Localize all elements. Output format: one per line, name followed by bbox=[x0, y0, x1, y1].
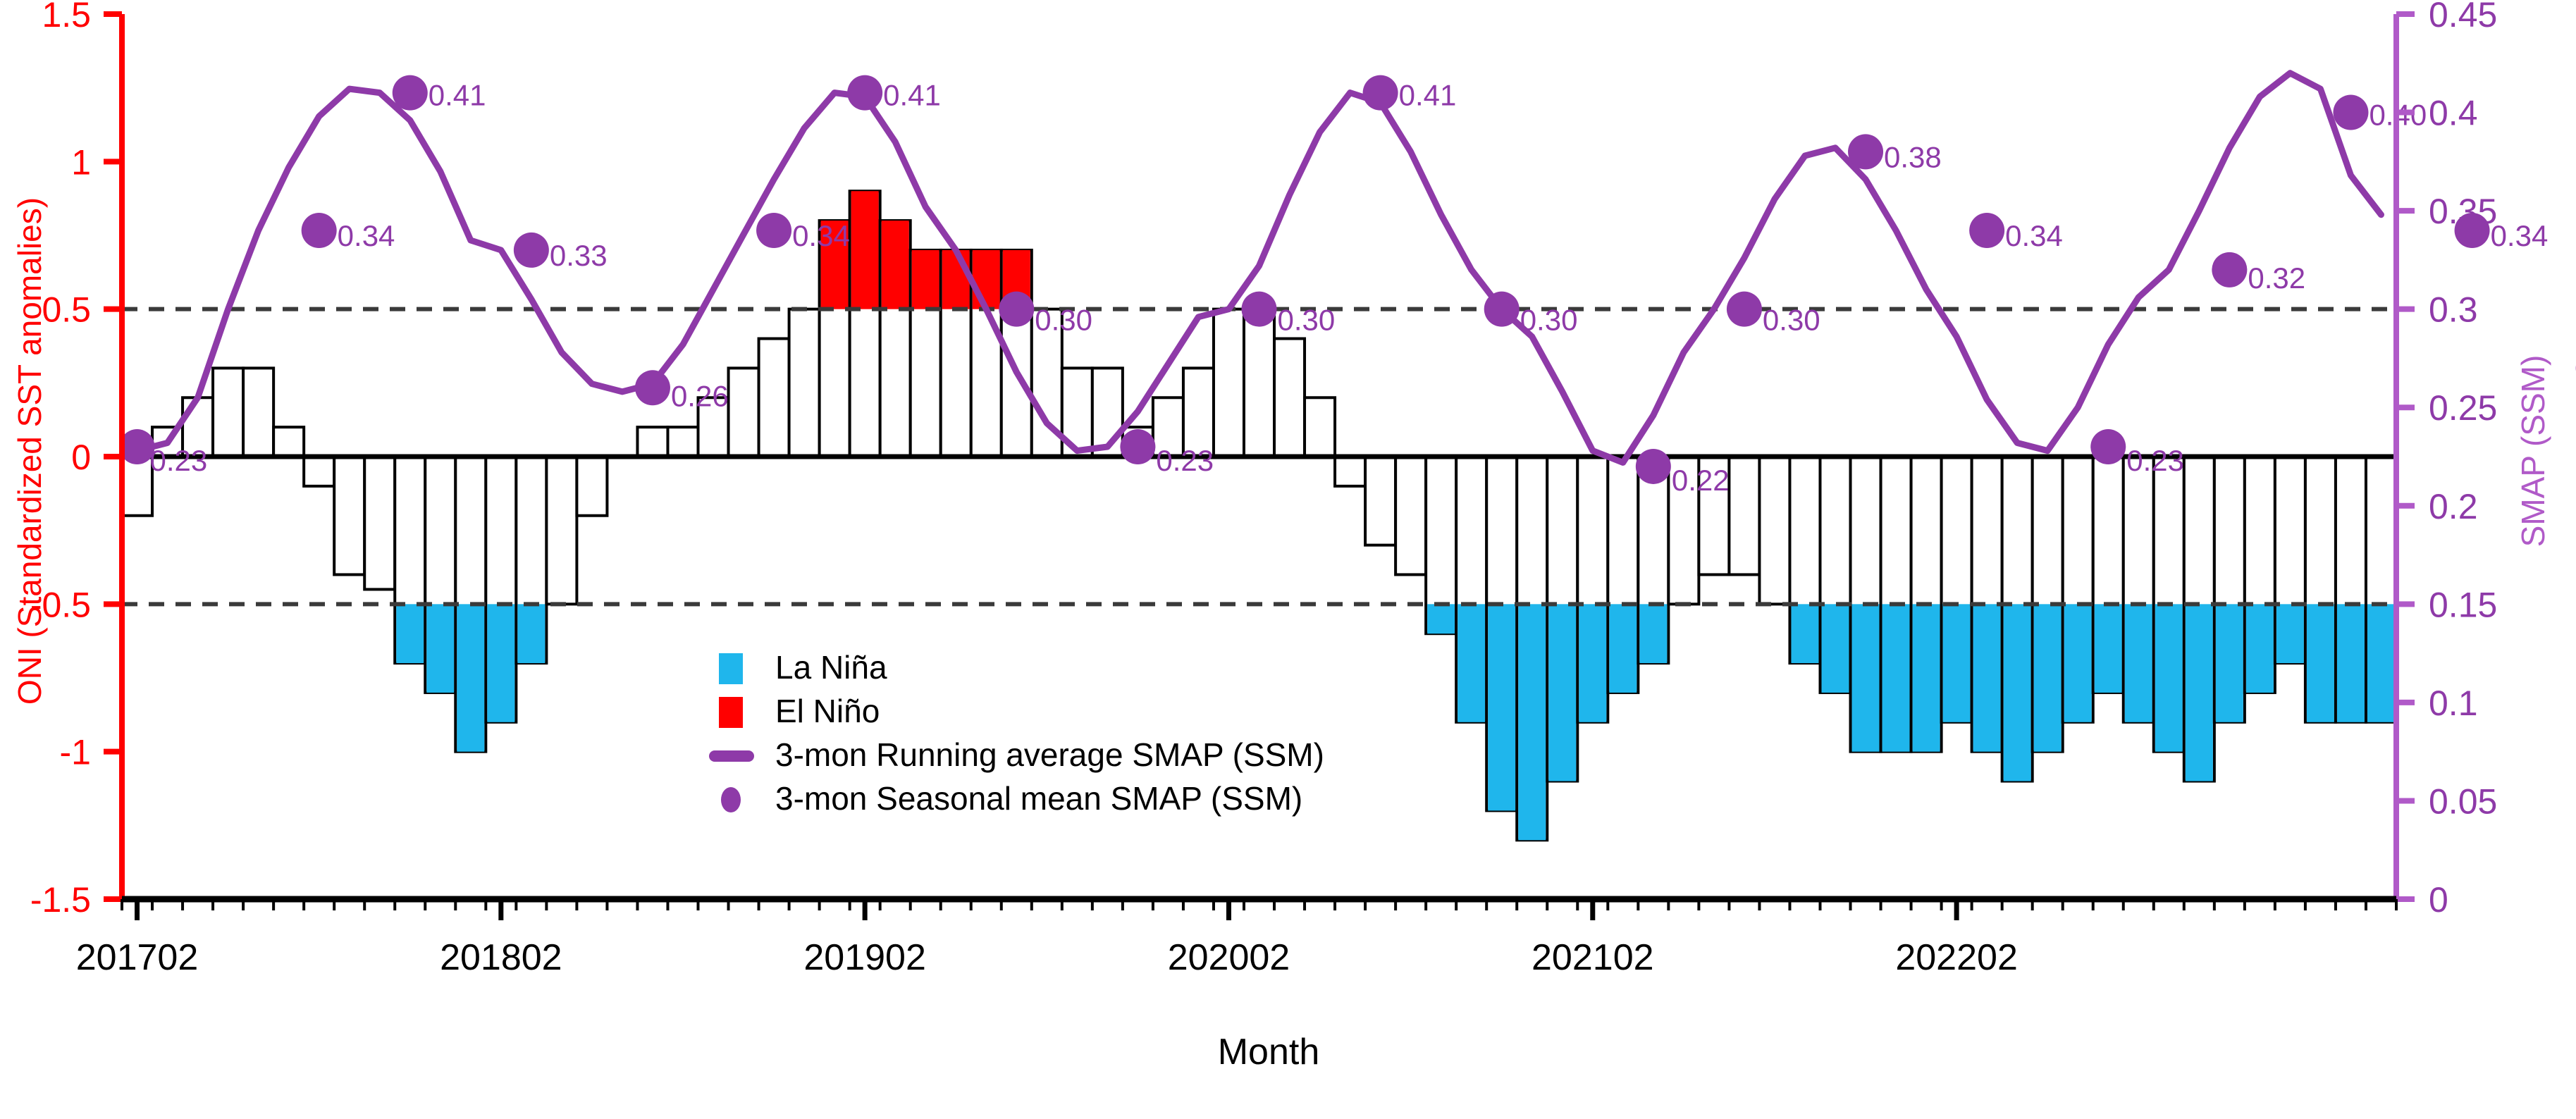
oni-bar bbox=[1456, 457, 1486, 722]
la-nina-fill bbox=[2034, 604, 2062, 751]
la-nina-fill bbox=[517, 604, 545, 663]
oni-bar bbox=[1486, 457, 1517, 810]
la-nina-fill bbox=[2276, 604, 2304, 663]
oni-bar bbox=[2093, 457, 2124, 693]
oni-bar-outline bbox=[273, 427, 304, 457]
x-axis-tick-label: 202002 bbox=[1168, 937, 1290, 978]
la-nina-fill bbox=[1579, 604, 1606, 722]
la-nina-fill bbox=[487, 604, 514, 722]
right-axis-tick-label: 0.3 bbox=[2429, 290, 2478, 330]
oni-bar-outline bbox=[1335, 457, 1365, 486]
smap-point-label: 0.30 bbox=[1763, 304, 1820, 337]
oni-bar bbox=[1789, 457, 1820, 663]
left-axis-tick-label: -1 bbox=[60, 733, 91, 772]
oni-bar-outline bbox=[334, 457, 364, 574]
oni-bar-outline bbox=[789, 309, 820, 457]
smap-point-label: 0.22 bbox=[1672, 464, 1730, 497]
oni-bar bbox=[759, 339, 789, 457]
oni-bar bbox=[1244, 309, 1274, 457]
smap-point-label: 0.30 bbox=[1278, 304, 1336, 337]
oni-bar-outline bbox=[213, 368, 243, 457]
legend-swatch-square bbox=[719, 697, 743, 728]
la-nina-fill bbox=[1458, 604, 1485, 722]
oni-bar-outline bbox=[577, 457, 607, 516]
oni-bar bbox=[941, 250, 971, 457]
left-axis-tick-label: 0.5 bbox=[42, 290, 91, 330]
oni-bar bbox=[2002, 457, 2033, 781]
smap-point-label: 0.34 bbox=[2005, 219, 2063, 252]
smap-seasonal-mean-point bbox=[393, 75, 428, 111]
legend-label: 3-mon Running average SMAP (SSM) bbox=[775, 736, 1324, 773]
smap-seasonal-mean-point bbox=[2090, 429, 2126, 464]
oni-bar bbox=[2184, 457, 2214, 781]
oni-bar bbox=[2305, 457, 2336, 722]
smap-point-label: 0.30 bbox=[1520, 304, 1578, 337]
oni-bar bbox=[2063, 457, 2093, 722]
la-nina-fill bbox=[1488, 604, 1515, 810]
oni-bar bbox=[911, 250, 941, 457]
oni-bar bbox=[1274, 339, 1305, 457]
oni-bar bbox=[2214, 457, 2245, 722]
smap-seasonal-mean-point bbox=[999, 292, 1034, 327]
smap-point-label: 0.23 bbox=[150, 444, 208, 477]
legend-item[interactable]: 3-mon Running average SMAP (SSM) bbox=[715, 736, 1324, 773]
oni-bar-outline bbox=[759, 339, 789, 457]
oni-bar bbox=[1638, 457, 1668, 663]
oni-bar bbox=[1759, 457, 1789, 604]
la-nina-fill bbox=[1548, 604, 1576, 781]
la-nina-fill bbox=[1882, 604, 1910, 751]
smap-seasonal-mean-point bbox=[514, 233, 549, 268]
oni-bar bbox=[1395, 457, 1426, 574]
oni-bar bbox=[486, 457, 516, 722]
oni-bar bbox=[1214, 309, 1244, 457]
oni-bar bbox=[395, 457, 425, 663]
smap-seasonal-mean-point bbox=[847, 75, 882, 111]
el-nino-fill bbox=[942, 250, 970, 309]
left-axis-tick-label: 1 bbox=[71, 142, 91, 182]
la-nina-fill bbox=[2307, 604, 2334, 722]
legend-label: El Niño bbox=[775, 693, 880, 729]
oni-bar-outline bbox=[304, 457, 334, 486]
oni-bar bbox=[364, 457, 395, 589]
oni-bar bbox=[546, 457, 577, 604]
oni-bar-outline bbox=[1395, 457, 1426, 574]
oni-bar bbox=[820, 221, 850, 457]
x-axis-tick-label: 201802 bbox=[440, 937, 562, 978]
right-axis-tick-label: 0 bbox=[2429, 880, 2448, 920]
la-nina-fill bbox=[457, 604, 484, 751]
oni-bar bbox=[577, 457, 607, 516]
oni-bar bbox=[2275, 457, 2305, 663]
oni-bar bbox=[667, 427, 698, 457]
chart-figure: 0.230.340.410.330.260.340.410.300.230.30… bbox=[0, 0, 2576, 1119]
smap-point-label: 0.23 bbox=[2126, 444, 2184, 477]
la-nina-fill bbox=[426, 604, 454, 693]
legend-swatch-square bbox=[719, 653, 743, 684]
x-axis-title: Month bbox=[1218, 1032, 1320, 1072]
la-nina-fill bbox=[2337, 604, 2365, 722]
oni-bar bbox=[2124, 457, 2154, 722]
oni-bar-outline bbox=[122, 457, 152, 516]
x-axis-tick-label: 202102 bbox=[1532, 937, 1654, 978]
la-nina-fill bbox=[1913, 604, 1940, 751]
el-nino-fill bbox=[912, 250, 939, 309]
la-nina-fill bbox=[2125, 604, 2152, 722]
oni-bar-outline bbox=[364, 457, 395, 589]
oni-bar bbox=[1577, 457, 1608, 722]
oni-bar bbox=[880, 221, 911, 457]
oni-bar bbox=[1608, 457, 1638, 693]
right-axis-tick-label: 0.15 bbox=[2429, 585, 2497, 624]
la-nina-fill bbox=[1609, 604, 1637, 693]
smap-seasonal-mean-point bbox=[1242, 292, 1277, 327]
right-axis-tick-label: 0.4 bbox=[2429, 94, 2478, 133]
smap-point-label: 0.41 bbox=[429, 79, 486, 112]
right-axis-tick-label: 0.45 bbox=[2429, 0, 2497, 35]
el-nino-fill bbox=[973, 250, 1000, 309]
smap-point-label: 0.30 bbox=[1035, 304, 1092, 337]
right-axis-tick-label: 0.05 bbox=[2429, 781, 2497, 821]
la-nina-fill bbox=[1973, 604, 2001, 751]
la-nina-fill bbox=[2246, 604, 2274, 693]
smap-seasonal-mean-point bbox=[756, 213, 791, 248]
right-axis-tick-label: 0.25 bbox=[2429, 388, 2497, 428]
oni-bar bbox=[1729, 457, 1759, 574]
oni-smap-combo-chart: 0.230.340.410.330.260.340.410.300.230.30… bbox=[0, 0, 2576, 1119]
smap-seasonal-mean-point bbox=[1848, 134, 1883, 169]
la-nina-fill bbox=[1639, 604, 1667, 663]
right-axis-title: SMAP (SSM) bbox=[2515, 355, 2551, 548]
oni-bar-outline bbox=[546, 457, 577, 604]
smap-seasonal-mean-point bbox=[635, 370, 670, 405]
smap-seasonal-mean-point bbox=[302, 213, 337, 248]
oni-bar bbox=[729, 368, 759, 457]
la-nina-fill bbox=[1518, 604, 1546, 840]
legend-label: La Niña bbox=[775, 649, 887, 686]
legend-swatch-dot bbox=[721, 787, 741, 812]
x-axis-tick-label: 202202 bbox=[1895, 937, 2018, 978]
oni-bar bbox=[971, 250, 1002, 457]
la-nina-fill bbox=[1821, 604, 1849, 693]
legend-item[interactable]: 3-mon Seasonal mean SMAP (SSM) bbox=[721, 780, 1302, 817]
oni-bar bbox=[2245, 457, 2275, 693]
left-axis-tick-label: 1.5 bbox=[42, 0, 91, 35]
right-axis-tick-label: 0.2 bbox=[2429, 487, 2478, 526]
smap-point-label: 0.23 bbox=[1156, 444, 1214, 477]
left-axis-tick-label: 0 bbox=[71, 438, 91, 477]
smap-seasonal-mean-point bbox=[2333, 95, 2368, 130]
la-nina-fill bbox=[1943, 604, 1971, 722]
smap-point-label: 0.41 bbox=[883, 79, 941, 112]
la-nina-fill bbox=[1791, 604, 1818, 663]
la-nina-fill bbox=[2216, 604, 2243, 722]
left-axis-title: ONI (Standardized SST anomalies) bbox=[11, 197, 48, 705]
oni-bar-outline bbox=[243, 368, 273, 457]
oni-bar-outline bbox=[1214, 309, 1244, 457]
oni-bar bbox=[273, 427, 304, 457]
oni-bar-outline bbox=[1274, 339, 1305, 457]
oni-bar bbox=[243, 368, 273, 457]
oni-bar bbox=[1335, 457, 1365, 486]
smap-point-label: 0.38 bbox=[1884, 140, 1942, 173]
smap-point-label: 0.33 bbox=[550, 239, 608, 272]
legend-label: 3-mon Seasonal mean SMAP (SSM) bbox=[775, 780, 1302, 817]
smap-seasonal-mean-point bbox=[1969, 213, 2004, 248]
oni-bar bbox=[1517, 457, 1547, 840]
oni-bar bbox=[425, 457, 455, 693]
oni-bar bbox=[850, 191, 880, 457]
oni-bar-outline bbox=[1305, 397, 1335, 457]
oni-bar-outline bbox=[1244, 309, 1274, 457]
oni-bar bbox=[516, 457, 546, 663]
oni-bar bbox=[1942, 457, 1972, 722]
oni-bar-outline bbox=[729, 368, 759, 457]
la-nina-fill bbox=[396, 604, 424, 663]
oni-bar bbox=[637, 427, 667, 457]
smap-point-label: 0.32 bbox=[2248, 261, 2305, 295]
oni-bar bbox=[304, 457, 334, 486]
oni-bar-outline bbox=[1365, 457, 1395, 545]
oni-bar bbox=[789, 309, 820, 457]
right-axis-tick-label: 0.35 bbox=[2429, 192, 2497, 231]
la-nina-fill bbox=[1427, 604, 1455, 633]
oni-bar-outline bbox=[667, 427, 698, 457]
la-nina-fill bbox=[2064, 604, 2092, 722]
smap-seasonal-mean-point bbox=[1727, 292, 1762, 327]
smap-seasonal-mean-point bbox=[1484, 292, 1520, 327]
la-nina-fill bbox=[2367, 604, 2395, 722]
smap-seasonal-mean-point bbox=[1120, 429, 1155, 464]
x-axis-tick-label: 201902 bbox=[803, 937, 926, 978]
smap-point-label: 0.34 bbox=[2491, 219, 2549, 252]
smap-seasonal-mean-point bbox=[2212, 252, 2247, 288]
oni-bar-outline bbox=[1759, 457, 1789, 604]
oni-bar bbox=[1547, 457, 1577, 781]
x-axis-tick-label: 201702 bbox=[76, 937, 199, 978]
oni-bar-outline bbox=[1729, 457, 1759, 574]
el-nino-fill bbox=[851, 191, 879, 309]
oni-bar bbox=[1426, 457, 1456, 633]
right-axis-tick-label: 0.1 bbox=[2429, 684, 2478, 723]
oni-bar-outline bbox=[637, 427, 667, 457]
left-axis-tick-label: -1.5 bbox=[30, 880, 91, 920]
smap-seasonal-mean-point bbox=[1363, 75, 1398, 111]
la-nina-fill bbox=[2155, 604, 2183, 751]
oni-bar bbox=[2366, 457, 2396, 722]
la-nina-fill bbox=[1852, 604, 1880, 751]
la-nina-fill bbox=[2186, 604, 2213, 781]
oni-bar bbox=[2336, 457, 2366, 722]
oni-bar bbox=[1820, 457, 1850, 693]
oni-bar bbox=[1305, 397, 1335, 457]
smap-seasonal-mean-point bbox=[1636, 449, 1671, 484]
smap-point-label: 0.34 bbox=[338, 219, 395, 252]
oni-bar bbox=[213, 368, 243, 457]
smap-point-label: 0.34 bbox=[792, 219, 850, 252]
la-nina-fill bbox=[2095, 604, 2122, 693]
oni-bar bbox=[1365, 457, 1395, 545]
el-nino-fill bbox=[882, 221, 909, 309]
smap-point-label: 0.41 bbox=[1399, 79, 1457, 112]
la-nina-fill bbox=[2004, 604, 2031, 781]
oni-bar bbox=[122, 457, 152, 516]
smap-point-label: 0.26 bbox=[671, 379, 729, 412]
oni-bar bbox=[334, 457, 364, 574]
